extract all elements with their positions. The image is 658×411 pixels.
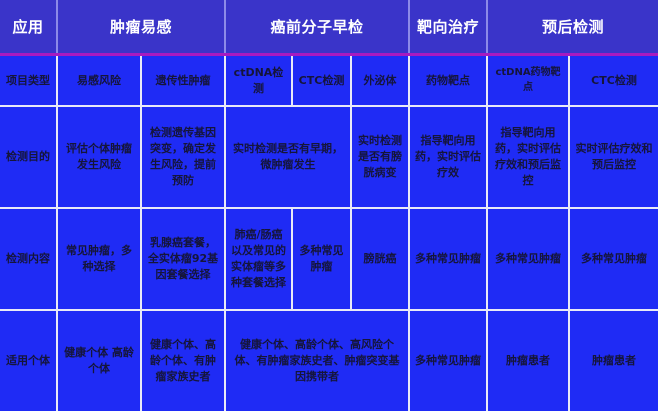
header-group-label: 肿瘤易感 (110, 16, 172, 37)
comparison-table: 应用 肿瘤易感 癌前分子早检 靶向治疗 预后检测 项目类型 易感风险 遗传性肿瘤… (0, 0, 658, 411)
table-body: 项目类型 易感风险 遗传性肿瘤 ctDNA检测 CTC检测 外泌体 药物靶点 c… (0, 56, 658, 411)
cell-project-type-3: ctDNA检测 (226, 56, 293, 105)
table-row: 检测内容 常见肿瘤，多种选择 乳腺癌套餐，全实体瘤92基因套餐选择 肺癌/肠癌以… (0, 209, 658, 309)
header-group-label: 癌前分子早检 (270, 16, 363, 37)
header-group-prognosis: 预后检测 (488, 0, 658, 53)
cell-project-type-1: 易感风险 (58, 56, 142, 105)
table-row: 检测目的 评估个体肿瘤发生风险 检测遗传基因突变，确定发生风险，提前预防 实时检… (0, 107, 658, 207)
table-row: 项目类型 易感风险 遗传性肿瘤 ctDNA检测 CTC检测 外泌体 药物靶点 c… (0, 56, 658, 105)
cell-project-type-6: 药物靶点 (410, 56, 488, 105)
cell-project-type-5: 外泌体 (352, 56, 410, 105)
cell-purpose-3: 实时检测是否有早期，微肿瘤发生 (226, 107, 352, 207)
cell-purpose-6: 指导靶向用药，实时评估疗效和预后监控 (488, 107, 570, 207)
row-label-project-type: 项目类型 (0, 56, 58, 105)
header-group-label: 靶向治疗 (417, 16, 479, 37)
row-separator (0, 309, 658, 311)
cell-content-6: 多种常见肿瘤 (410, 209, 488, 309)
cell-project-type-2: 遗传性肿瘤 (142, 56, 226, 105)
cell-project-type-7: ctDNA药物靶点 (488, 56, 570, 105)
table-row: 适用个体 健康个体 高龄个体 健康个体、高龄个体、有肿瘤家族史者 健康个体、高龄… (0, 311, 658, 411)
cell-content-4: 多种常见肿瘤 (293, 209, 352, 309)
row-separator (0, 105, 658, 107)
cell-population-4: 多种常见肿瘤 (410, 311, 488, 411)
header-group-label: 应用 (12, 16, 43, 37)
header-group-targeted-therapy: 靶向治疗 (410, 0, 488, 53)
cell-purpose-2: 检测遗传基因突变，确定发生风险，提前预防 (142, 107, 226, 207)
cell-purpose-1: 评估个体肿瘤发生风险 (58, 107, 142, 207)
cell-population-2: 健康个体、高龄个体、有肿瘤家族史者 (142, 311, 226, 411)
header-group-application: 应用 (0, 0, 58, 53)
cell-content-1: 常见肿瘤，多种选择 (58, 209, 142, 309)
cell-content-8: 多种常见肿瘤 (570, 209, 658, 309)
cell-population-5: 肿瘤患者 (488, 311, 570, 411)
cell-project-type-8: CTC检测 (570, 56, 658, 105)
row-separator (0, 207, 658, 209)
header-group-early-detection: 癌前分子早检 (226, 0, 410, 53)
row-label-purpose: 检测目的 (0, 107, 58, 207)
cell-purpose-5: 指导靶向用药，实时评估疗效 (410, 107, 488, 207)
cell-purpose-4: 实时检测是否有膀胱病变 (352, 107, 410, 207)
row-label-population: 适用个体 (0, 311, 58, 411)
cell-content-5: 膀胱癌 (352, 209, 410, 309)
cell-population-3: 健康个体、高龄个体、高风险个体、有肿瘤家族史者、肿瘤突变基因携带者 (226, 311, 410, 411)
cell-project-type-4: CTC检测 (293, 56, 352, 105)
cell-purpose-7: 实时评估疗效和预后监控 (570, 107, 658, 207)
row-label-content: 检测内容 (0, 209, 58, 309)
header-group-label: 预后检测 (542, 16, 604, 37)
cell-population-1: 健康个体 高龄个体 (58, 311, 142, 411)
cell-content-2: 乳腺癌套餐，全实体瘤92基因套餐选择 (142, 209, 226, 309)
cell-content-7: 多种常见肿瘤 (488, 209, 570, 309)
cell-population-6: 肿瘤患者 (570, 311, 658, 411)
header-group-susceptibility: 肿瘤易感 (58, 0, 226, 53)
table-header-row: 应用 肿瘤易感 癌前分子早检 靶向治疗 预后检测 (0, 0, 658, 53)
header-divider (0, 53, 658, 56)
cell-content-3: 肺癌/肠癌以及常见的实体瘤等多种套餐选择 (226, 209, 293, 309)
